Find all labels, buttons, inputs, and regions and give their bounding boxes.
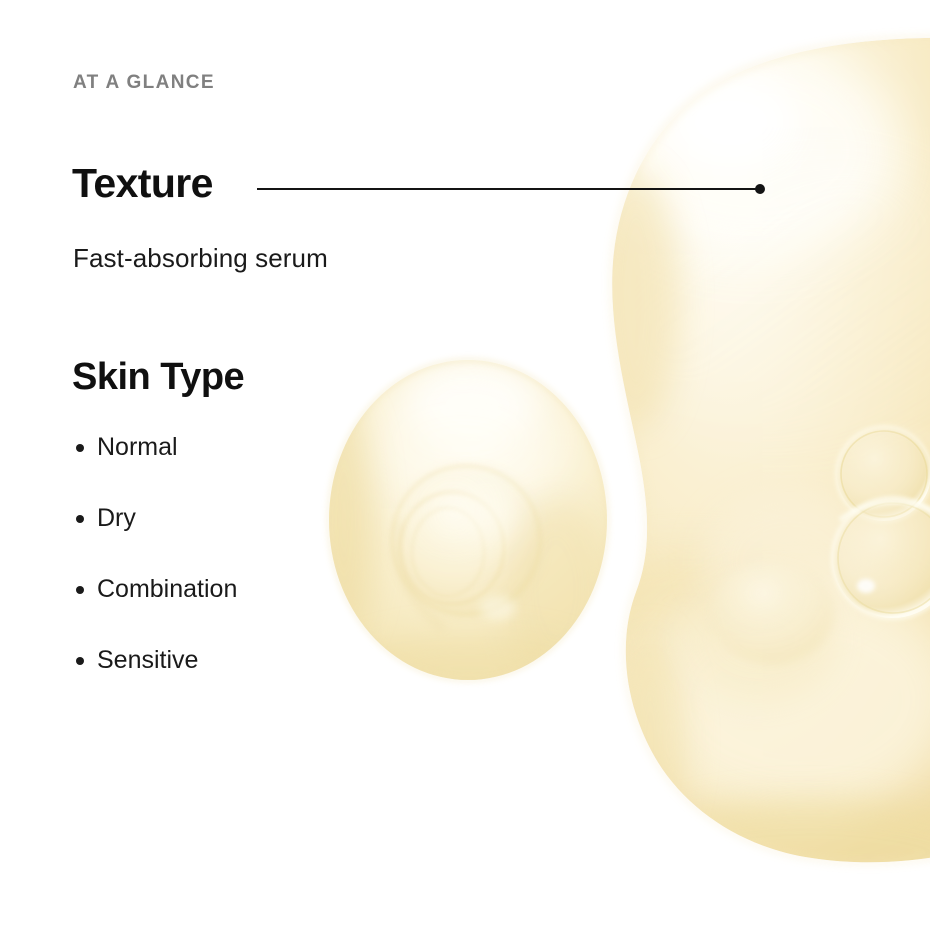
texture-heading: Texture bbox=[72, 163, 213, 204]
bullet-dot-icon bbox=[76, 657, 84, 665]
bullet-dot-icon bbox=[76, 586, 84, 594]
skin-type-heading: Skin Type bbox=[72, 358, 244, 396]
list-item: Sensitive bbox=[73, 648, 403, 673]
skin-type-list: Normal Dry Combination Sensitive bbox=[73, 435, 403, 673]
list-item-label: Normal bbox=[97, 433, 178, 461]
product-info-card: AT A GLANCE Texture Fast-absorbing serum… bbox=[0, 0, 930, 930]
bullet-dot-icon bbox=[76, 444, 84, 452]
text-content-layer: AT A GLANCE Texture Fast-absorbing serum… bbox=[0, 0, 930, 930]
list-item-label: Sensitive bbox=[97, 646, 198, 674]
texture-description: Fast-absorbing serum bbox=[73, 245, 328, 271]
section-eyebrow-label: AT A GLANCE bbox=[73, 73, 215, 92]
list-item-label: Dry bbox=[97, 504, 136, 532]
texture-leader-dot-icon bbox=[755, 184, 765, 194]
list-item-label: Combination bbox=[97, 575, 237, 603]
bullet-dot-icon bbox=[76, 515, 84, 523]
list-item: Dry bbox=[73, 506, 403, 531]
texture-leader-line bbox=[257, 188, 761, 190]
list-item: Normal bbox=[73, 435, 403, 460]
list-item: Combination bbox=[73, 577, 403, 602]
